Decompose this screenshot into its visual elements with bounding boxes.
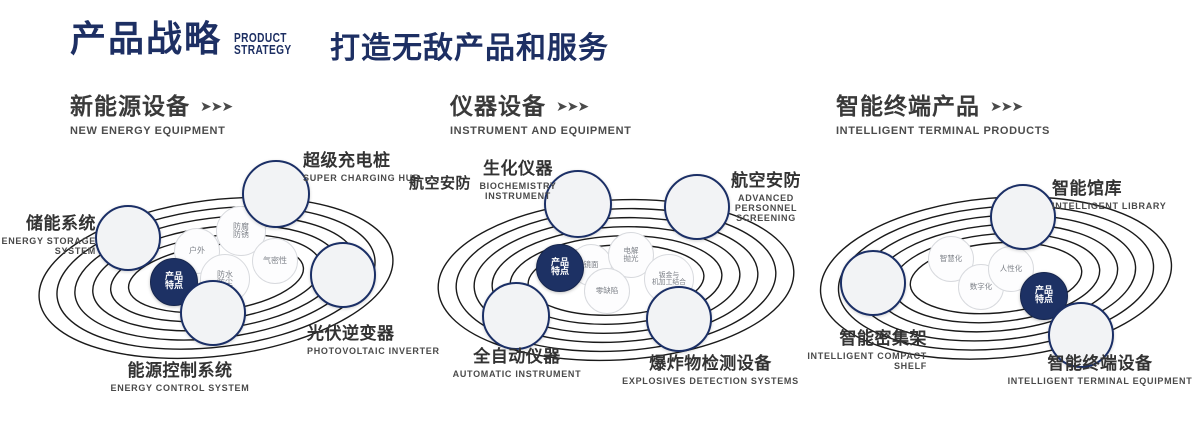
super-charging-hub-photo [244, 162, 310, 228]
center-bubble-line2: 特点 [165, 281, 183, 291]
feature-bubble-3: 零缺陷 [584, 268, 630, 314]
feature-bubble-text: 零缺陷 [596, 286, 619, 295]
label-cn: 能源控制系统 [85, 362, 275, 381]
section-heading-cn: 仪器设备 ➤➤➤ [450, 95, 631, 120]
explosives-detection-system-photo [648, 288, 712, 352]
node-energy-control-system[interactable] [180, 280, 246, 346]
compact-shelving-photo [842, 252, 906, 316]
label-cn: 全自动仪器 [437, 348, 597, 367]
node-energy-storage-system[interactable] [95, 205, 161, 271]
label-en: SUPER CHARGING HUB [303, 173, 420, 183]
label-en: INTELLIGENT COMPACT SHELF [800, 351, 927, 371]
chevron-right-triple-icon: ➤➤➤ [200, 100, 232, 115]
brand-title-en-line2: STRATEGY [234, 44, 292, 56]
label-intelligent-library: 智能馆库 INTELLIGENT LIBRARY [1052, 180, 1166, 211]
section-heading-cn-text: 仪器设备 [450, 95, 546, 120]
node-intelligent-library[interactable] [990, 184, 1056, 250]
node-automatic-instrument[interactable] [482, 282, 550, 350]
label-en: INTELLIGENT TERMINAL EQUIPMENT [1000, 376, 1200, 386]
feature-bubble-text: 抛光 [624, 254, 639, 263]
feature-bubble-text: 户外 [189, 246, 205, 255]
brand-title-cn: 产品战略 [70, 22, 222, 58]
label-biochemistry-instrument: 生化仪器 BIOCHEMISTRY INSTRUMENT [462, 160, 574, 201]
label-cn: 生化仪器 [462, 160, 574, 179]
label-automatic-instrument: 全自动仪器 AUTOMATIC INSTRUMENT [437, 348, 597, 379]
node-super-charging-hub[interactable] [242, 160, 310, 228]
label-intelligent-terminal-equipment: 智能终端设备 INTELLIGENT TERMINAL EQUIPMENT [1000, 355, 1200, 386]
section-heading-cn-text: 新能源设备 [70, 95, 190, 120]
page-headline: 打造无敌产品和服务 [330, 32, 609, 65]
label-intelligent-compact-shelf: 智能密集架 INTELLIGENT COMPACT SHELF [800, 330, 927, 371]
label-cn: 智能密集架 [800, 330, 927, 349]
feature-bubble-text: 机加工结合 [652, 278, 686, 286]
brand-title: 产品战略 PRODUCT STRATEGY [70, 22, 308, 58]
label-en: INTELLIGENT LIBRARY [1052, 201, 1166, 211]
section-heading-instrument: 仪器设备 ➤➤➤ INSTRUMENT AND EQUIPMENT [450, 95, 631, 137]
center-bubble-line2: 特点 [551, 267, 569, 277]
feature-bubble-text: 镜面 [584, 260, 599, 269]
label-en: BIOCHEMISTRY INSTRUMENT [462, 181, 574, 201]
node-photovoltaic-inverter[interactable] [310, 242, 376, 308]
photovoltaic-inverter-photo [312, 244, 376, 308]
feature-bubble-text: 数字化 [970, 282, 993, 291]
chevron-right-triple-icon: ➤➤➤ [990, 100, 1022, 115]
section-heading-cn-text: 智能终端产品 [836, 95, 980, 120]
section-heading-en: INSTRUMENT AND EQUIPMENT [450, 125, 631, 137]
label-cn: 智能终端设备 [1000, 355, 1200, 374]
label-en: ENERGY STORAGE SYSTEM [0, 236, 96, 256]
section-heading-intelligent-terminal: 智能终端产品 ➤➤➤ INTELLIGENT TERMINAL PRODUCTS [836, 95, 1050, 137]
label-en: AUTOMATIC INSTRUMENT [437, 369, 597, 379]
intelligent-library-room-photo [992, 186, 1056, 250]
section-heading-cn: 智能终端产品 ➤➤➤ [836, 95, 1050, 120]
node-explosives-detection-systems[interactable] [646, 286, 712, 352]
chevron-right-triple-icon: ➤➤➤ [556, 100, 588, 115]
label-explosives-detection-systems: 爆炸物检测设备 EXPLOSIVES DETECTION SYSTEMS [618, 355, 803, 386]
node-intelligent-compact-shelf[interactable] [840, 250, 906, 316]
label-cn: 超级充电桩 [303, 152, 420, 171]
section-heading-en: NEW ENERGY EQUIPMENT [70, 125, 232, 137]
label-en: ENERGY CONTROL SYSTEM [85, 383, 275, 393]
energy-storage-cabinet-photo [97, 207, 161, 271]
product-strategy-infographic: 产品战略 PRODUCT STRATEGY 打造无敌产品和服务 新能源设备 ➤➤… [0, 0, 1200, 422]
section-heading-cn: 新能源设备 ➤➤➤ [70, 95, 232, 120]
brand-title-en: PRODUCT STRATEGY [234, 32, 292, 56]
feature-bubble-4: 气密性 [252, 238, 298, 284]
label-en: EXPLOSIVES DETECTION SYSTEMS [618, 376, 803, 386]
section-heading-en: INTELLIGENT TERMINAL PRODUCTS [836, 125, 1050, 137]
feature-bubble-text: 防锈 [233, 230, 249, 239]
section-heading-new-energy: 新能源设备 ➤➤➤ NEW ENERGY EQUIPMENT [70, 95, 232, 137]
label-cn: 储能系统 [0, 215, 96, 234]
label-energy-storage-system: 储能系统 ENERGY STORAGE SYSTEM [0, 215, 96, 256]
automatic-instrument-photo [484, 284, 550, 350]
label-energy-control-system: 能源控制系统 ENERGY CONTROL SYSTEM [85, 362, 275, 393]
label-cn: 智能馆库 [1052, 180, 1166, 199]
feature-bubble-text: 智慧化 [940, 254, 963, 263]
label-cn: 爆炸物检测设备 [618, 355, 803, 374]
energy-control-cabinet-photo [182, 282, 246, 346]
feature-bubble-text: 人性化 [1000, 264, 1023, 273]
label-super-charging-hub: 超级充电桩 SUPER CHARGING HUB [303, 152, 420, 183]
feature-bubble-text: 气密性 [263, 256, 287, 265]
